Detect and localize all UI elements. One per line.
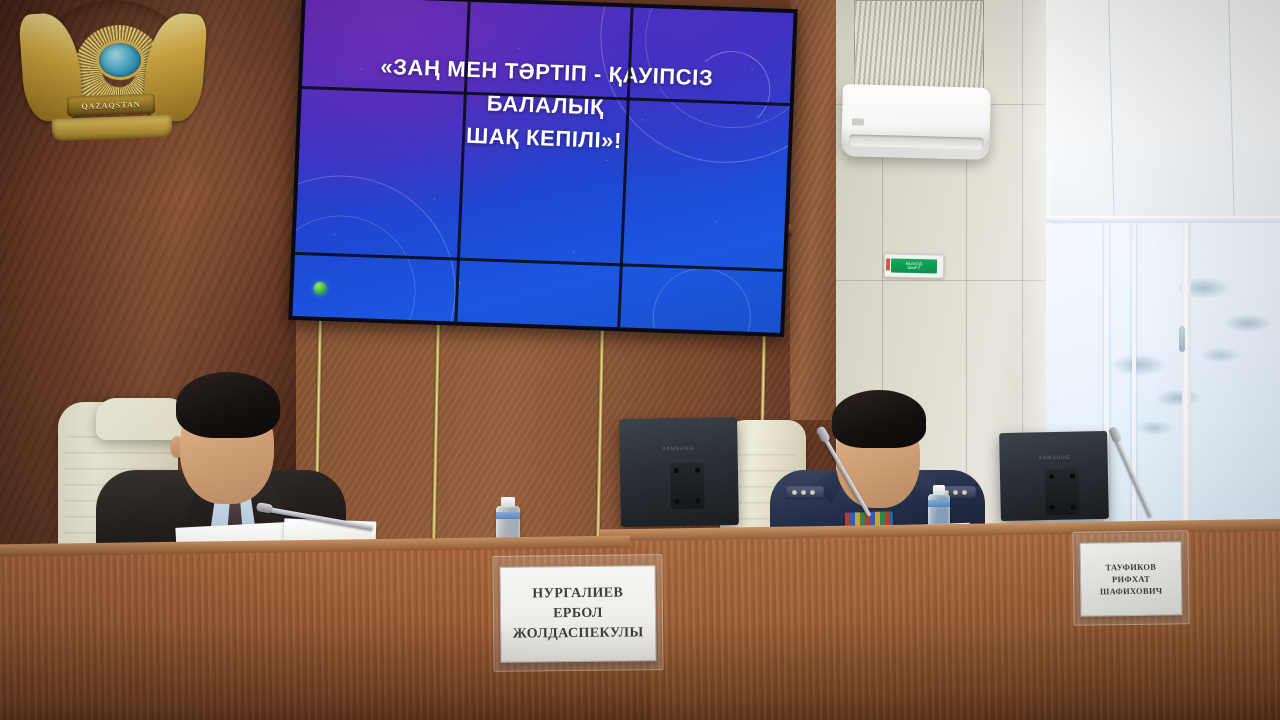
monitor-vesa-mount <box>669 463 704 510</box>
nameplate-left-line-2: ЕРБОЛ <box>553 604 603 625</box>
conference-hall-photo: QAZAQSTAN «ЗАҢ МЕН ТӘРТІП - ҚАУІПСІЗ БАЛ… <box>0 0 1280 720</box>
nameplate-right: ТАУФИКОВ РИФХАТ ШАФИХОВИЧ <box>1079 541 1182 616</box>
bottle-cap-icon <box>933 485 945 495</box>
nameplate-right-line-1: ТАУФИКОВ <box>1105 560 1156 573</box>
exit-sign-line-2: ШЫҒУ <box>907 265 920 270</box>
presentation-video-wall[interactable]: «ЗАҢ МЕН ТӘРТІП - ҚАУІПСІЗ БАЛАЛЫҚ ШАҚ К… <box>288 0 797 337</box>
bottle-label <box>928 500 950 507</box>
slide-logo-icon <box>313 281 327 294</box>
emblem-country-text: QAZAQSTAN <box>81 99 140 110</box>
nameplate-left: НУРГАЛИЕВ ЕРБОЛ ЖОЛДАСПЕКУЛЫ <box>500 565 657 663</box>
roller-blind[interactable] <box>1046 0 1280 224</box>
window-mullion <box>1182 202 1191 530</box>
computer-monitor-center[interactable]: SAMSUNG <box>619 417 739 527</box>
nameplate-right-line-3: ШАФИХОВИЧ <box>1100 585 1163 598</box>
nameplate-left-line-1: НУРГАЛИЕВ <box>532 583 623 604</box>
kazakhstan-state-emblem-icon: QAZAQSTAN <box>24 0 202 142</box>
hair <box>832 390 926 448</box>
slide-title: «ЗАҢ МЕН ТӘРТІП - ҚАУІПСІЗ БАЛАЛЫҚ ШАҚ К… <box>329 48 762 162</box>
monitor-brand-label: SAMSUNG <box>1038 455 1070 462</box>
nameplate-left-line-3: ЖОЛДАСПЕКУЛЫ <box>513 623 644 645</box>
nameplate-right-line-2: РИФХАТ <box>1112 573 1150 586</box>
computer-monitor-right[interactable]: SAMSUNG <box>999 431 1109 521</box>
slide-surface: «ЗАҢ МЕН ТӘРТІП - ҚАУІПСІЗ БАЛАЛЫҚ ШАҚ К… <box>292 0 793 333</box>
exit-sign: ВЫХОД ШЫҒУ <box>884 253 944 278</box>
bottle-cap-icon <box>501 497 514 507</box>
air-conditioner-unit <box>841 84 991 160</box>
window-handle[interactable] <box>1179 326 1185 352</box>
monitor-vesa-mount <box>1045 468 1080 515</box>
window-sill <box>1046 216 1280 223</box>
epaulette-left <box>786 486 824 499</box>
office-chair-headrest-left <box>96 398 188 440</box>
hair <box>176 372 280 438</box>
bottle-label <box>496 512 520 519</box>
ventilation-grille <box>854 0 984 98</box>
monitor-brand-label: SAMSUNG <box>662 446 694 453</box>
